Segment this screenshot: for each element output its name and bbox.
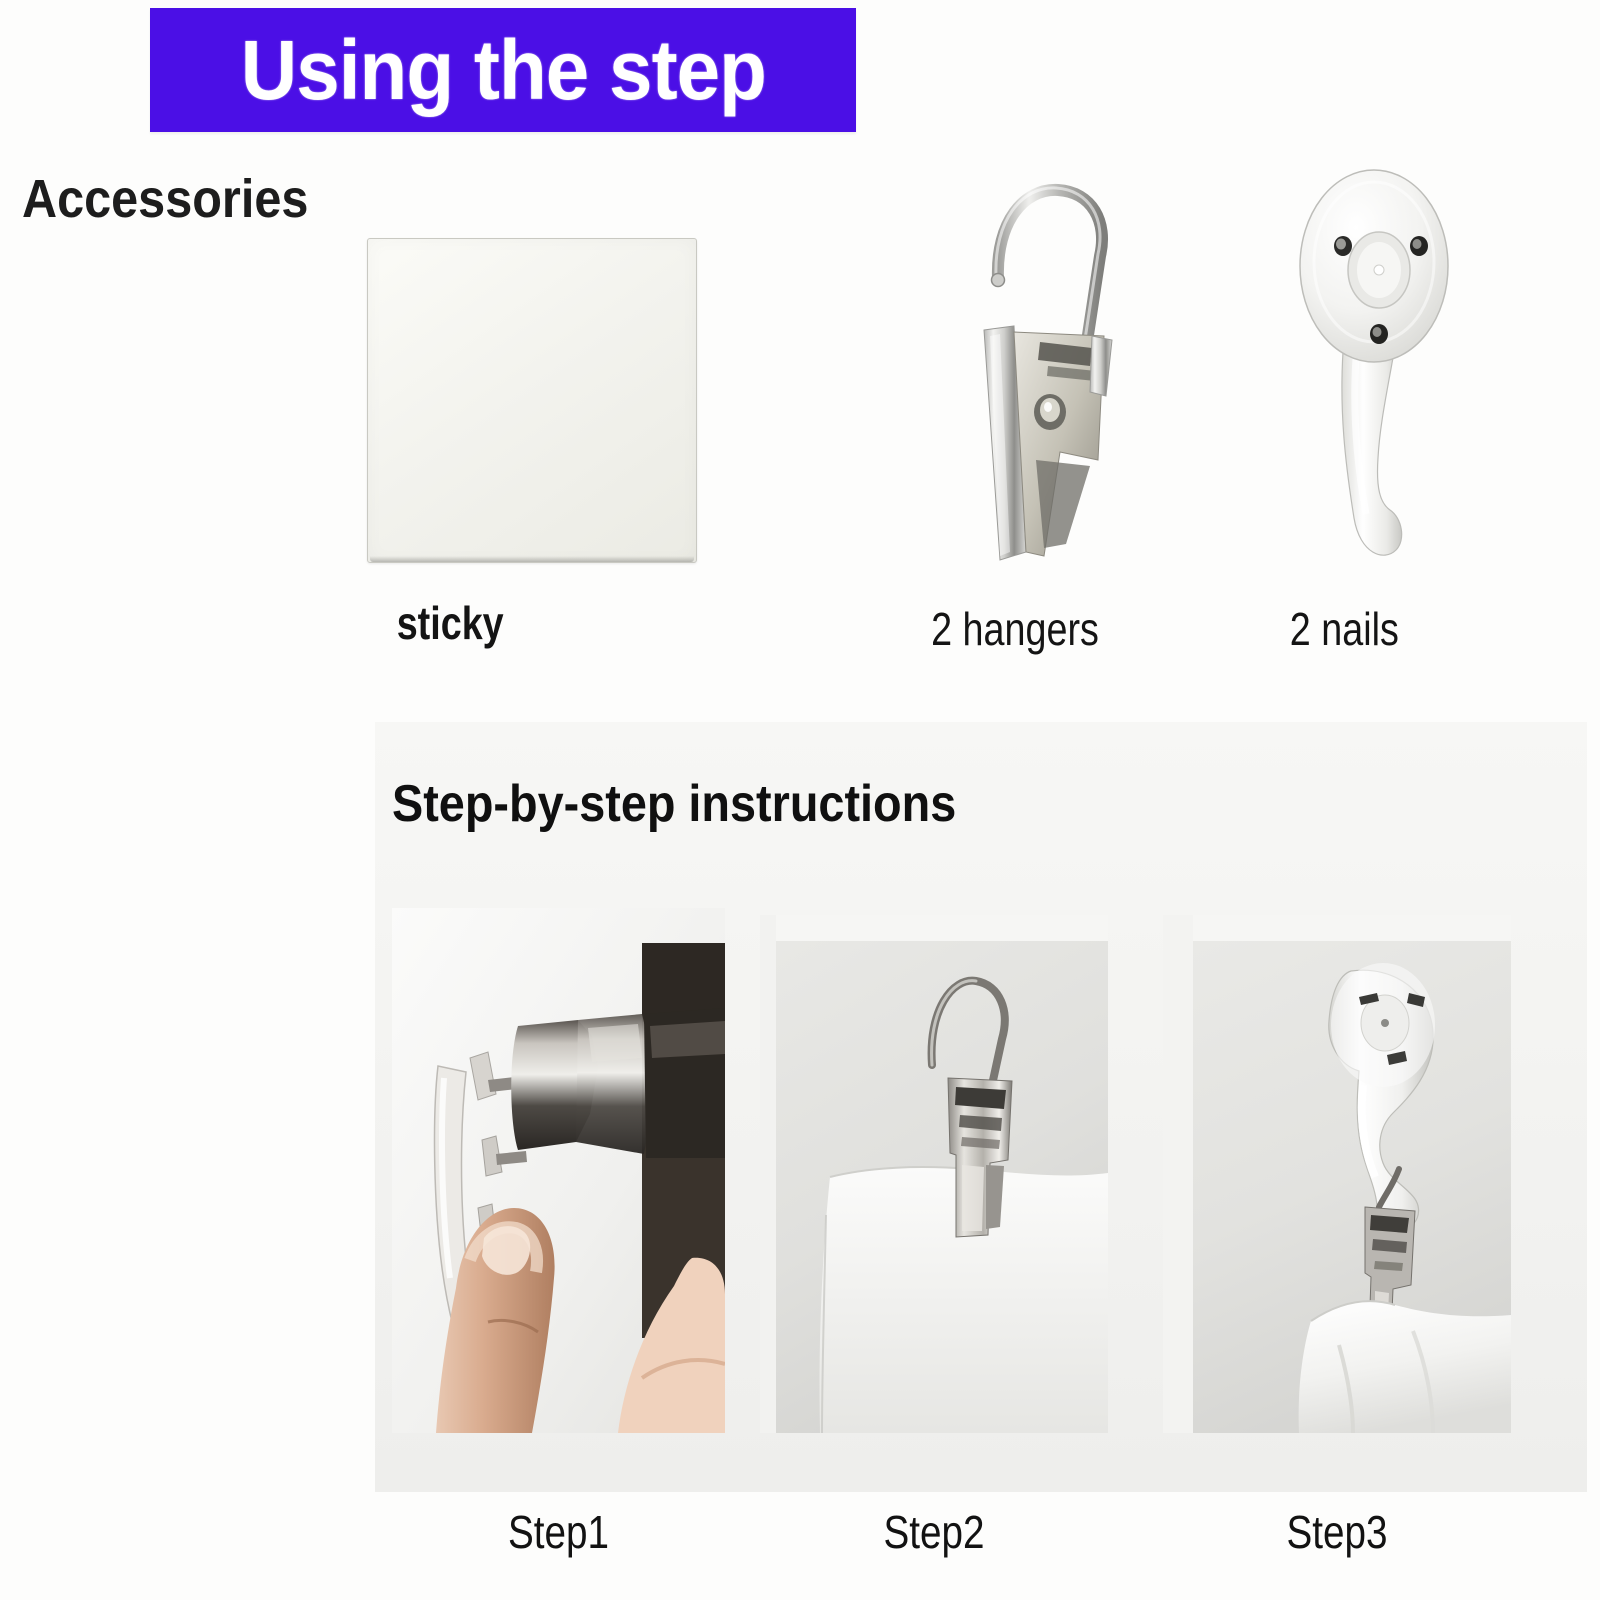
title-banner: Using the step <box>150 8 856 132</box>
step-3-caption: Step3 <box>1191 1505 1483 1559</box>
accessory-caption-nails: 2 nails <box>1290 602 1470 656</box>
step-2-caption: Step2 <box>788 1505 1080 1559</box>
accessories-row: sticky <box>0 150 1600 670</box>
step-3-photo <box>1163 915 1511 1433</box>
accessory-item-nails: 2 nails <box>1270 602 1490 656</box>
page-title: Using the step <box>240 22 765 119</box>
wall-hook-icon <box>1280 158 1470 578</box>
product-instruction-page: Using the step Accessories sticky <box>0 0 1600 1600</box>
step-2-photo <box>760 915 1108 1433</box>
accessory-item-sticky: sticky <box>367 596 697 650</box>
step-1-caption: Step1 <box>419 1505 699 1559</box>
adhesive-pad-icon <box>367 238 697 563</box>
step-1-photo <box>392 908 725 1433</box>
accessory-caption-hangers: 2 hangers <box>931 602 1169 656</box>
clip-hanger-icon <box>940 160 1150 580</box>
instructions-section-label: Step-by-step instructions <box>392 774 956 834</box>
accessory-item-hangers: 2 hangers <box>905 602 1195 656</box>
accessory-caption-sticky: sticky <box>397 596 668 650</box>
